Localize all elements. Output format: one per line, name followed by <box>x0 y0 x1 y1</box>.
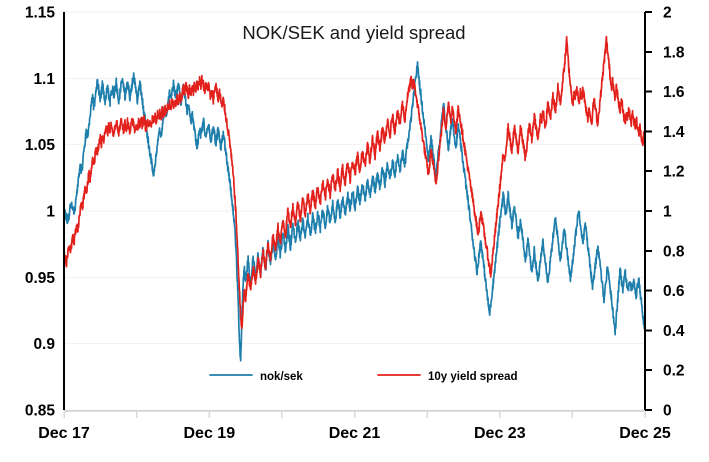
x-axis-tick-label: Dec 19 <box>184 425 236 442</box>
left-axis-tick-label: 1.15 <box>25 5 56 22</box>
right-axis-tick-label: 1.6 <box>663 84 685 101</box>
legend-label-nok-sek: nok/sek <box>260 371 303 383</box>
right-axis-tick-label: 0 <box>663 403 672 420</box>
right-axis-tick-label: 1 <box>663 204 672 221</box>
x-axis-tick-label: Dec 21 <box>329 425 381 442</box>
right-axis-tick-labels: 21.81.61.41.210.80.60.40.20 <box>663 5 685 420</box>
left-axis-tick-label: 1.1 <box>33 71 55 88</box>
x-axis-tick-label: Dec 25 <box>619 425 671 442</box>
legend-label-yield-spread: 10y yield spread <box>428 371 518 383</box>
left-axis-tick-label: 0.95 <box>25 270 56 287</box>
right-axis-tick-label: 0.2 <box>663 363 685 380</box>
right-axis-tick-label: 2 <box>663 5 672 22</box>
right-axis-tick-label: 0.4 <box>663 323 685 340</box>
left-axis-tick-label: 1.05 <box>25 137 56 154</box>
x-axis-tick-labels: Dec 17Dec 19Dec 21Dec 23Dec 25 <box>38 425 671 442</box>
x-axis-tick-label: Dec 17 <box>38 425 90 442</box>
right-axis-tick-label: 0.8 <box>663 243 685 260</box>
x-axis-tick-marks <box>64 411 645 418</box>
chart-title: NOK/SEK and yield spread <box>242 22 465 43</box>
left-axis-tick-labels: 1.151.11.0510.950.90.85 <box>25 5 56 420</box>
left-axis-tick-label: 1 <box>46 204 55 221</box>
right-axis-tick-label: 0.6 <box>663 283 685 300</box>
right-axis-tick-label: 1.4 <box>663 124 685 141</box>
right-axis-tick-label: 1.2 <box>663 164 685 181</box>
right-axis-tick-label: 1.8 <box>663 44 685 61</box>
x-axis-tick-label: Dec 23 <box>474 425 526 442</box>
left-axis-tick-label: 0.9 <box>33 336 55 353</box>
left-axis-tick-label: 0.85 <box>25 403 56 420</box>
chart-container: 1.151.11.0510.950.90.85 21.81.61.41.210.… <box>0 0 709 462</box>
chart-canvas: 1.151.11.0510.950.90.85 21.81.61.41.210.… <box>0 0 709 462</box>
